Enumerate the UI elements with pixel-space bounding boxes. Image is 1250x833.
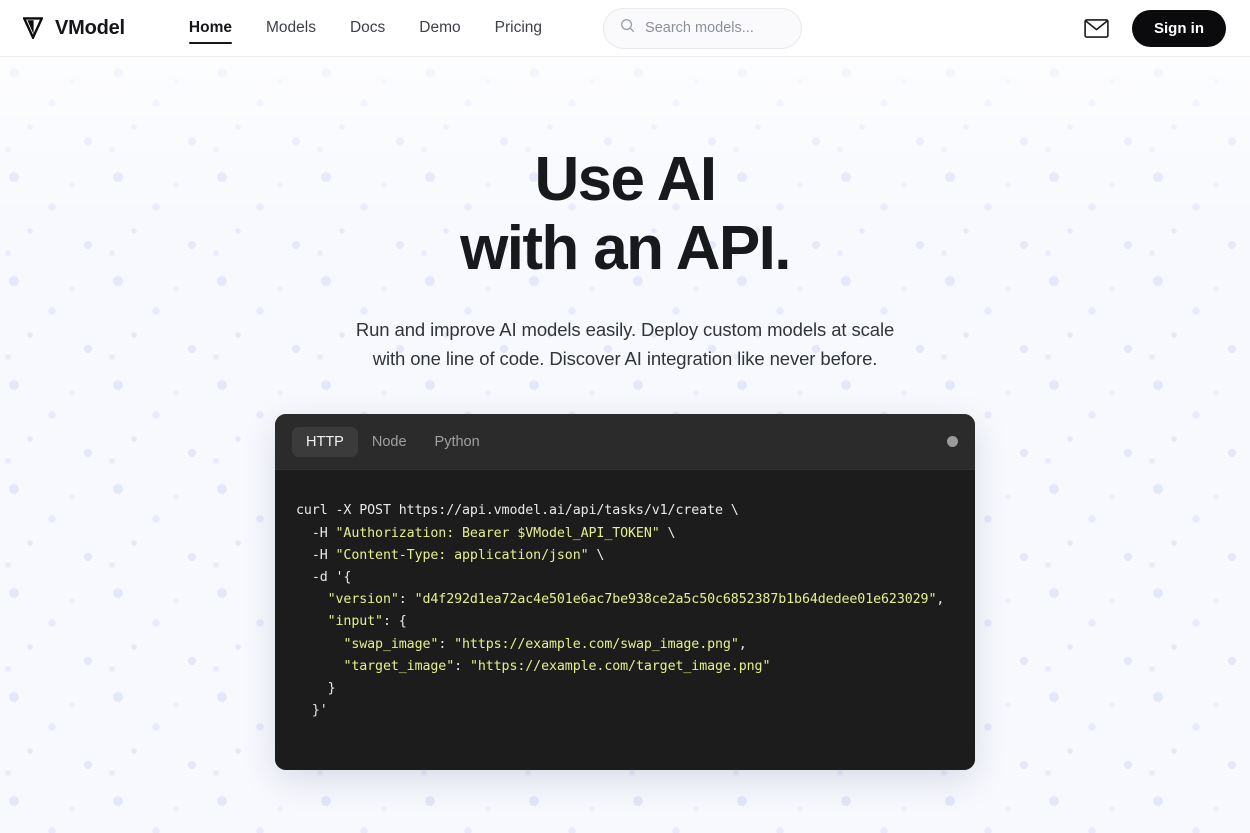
code-text-token: \ [589, 548, 605, 563]
hero-section: Use AI with an API. Run and improve AI m… [0, 57, 1250, 373]
code-text-token [296, 614, 328, 629]
nav-item-demo[interactable]: Demo [419, 0, 460, 56]
search-input[interactable]: Search models... [603, 8, 802, 49]
code-string-token: "d4f292d1ea72ac4e501e6ac7be938ce2a5c50c6… [415, 592, 937, 607]
code-text-token: , [936, 592, 944, 607]
code-text-token: curl -X POST https://api.vmodel.ai/api/t… [296, 503, 739, 518]
hero-title-line-2: with an API. [460, 214, 790, 283]
code-text-token: -H [296, 526, 336, 541]
code-text-token: : { [383, 614, 407, 629]
search-placeholder: Search models... [645, 20, 754, 36]
code-string-token: "swap_image" [343, 637, 438, 652]
header-actions: Sign in [1082, 10, 1226, 47]
code-line: "version": "d4f292d1ea72ac4e501e6ac7be93… [296, 589, 955, 611]
page-title: Use AI with an API. [0, 145, 1250, 284]
code-line: "target_image": "https://example.com/tar… [296, 656, 955, 678]
code-string-token: "https://example.com/target_image.png" [470, 659, 770, 674]
code-line: curl -X POST https://api.vmodel.ai/api/t… [296, 500, 955, 522]
code-text-token: -H [296, 548, 336, 563]
code-text-token [296, 659, 343, 674]
code-text-token: : [454, 659, 470, 674]
hero-subtitle-line-2: with one line of code. Discover AI integ… [373, 348, 878, 369]
hero-title-line-1: Use AI [534, 145, 715, 214]
code-line: "swap_image": "https://example.com/swap_… [296, 634, 955, 656]
code-text-token: -d '{ [296, 570, 351, 585]
status-dot-icon[interactable] [947, 436, 958, 447]
code-string-token: "input" [328, 614, 383, 629]
code-text-token [296, 637, 343, 652]
code-text-token: } [296, 681, 336, 696]
code-string-token: "Content-Type: application/json" [336, 548, 589, 563]
code-body: curl -X POST https://api.vmodel.ai/api/t… [275, 470, 975, 770]
brand-name: VModel [55, 17, 125, 40]
code-line: } [296, 678, 955, 700]
code-string-token: "Authorization: Bearer $VModel_API_TOKEN… [336, 526, 660, 541]
nav-item-models[interactable]: Models [266, 0, 316, 56]
code-snippet: curl -X POST https://api.vmodel.ai/api/t… [296, 500, 955, 722]
envelope-icon[interactable] [1082, 14, 1110, 42]
brand-logo[interactable]: VModel [22, 16, 125, 40]
sign-in-button[interactable]: Sign in [1132, 10, 1226, 47]
hero-subtitle-line-1: Run and improve AI models easily. Deploy… [356, 319, 894, 340]
code-text-token: , [739, 637, 747, 652]
nav-item-pricing[interactable]: Pricing [495, 0, 542, 56]
site-header: VModel Home Models Docs Demo Pricing Sea… [0, 0, 1250, 57]
search-icon [620, 18, 635, 38]
code-sample-card: HTTP Node Python curl -X POST https://ap… [275, 414, 975, 770]
code-string-token: "https://example.com/swap_image.png" [454, 637, 739, 652]
code-string-token: "version" [328, 592, 399, 607]
v-logo-icon [22, 16, 44, 40]
code-text-token: }' [296, 703, 328, 718]
nav-item-docs[interactable]: Docs [350, 0, 385, 56]
code-tab-http[interactable]: HTTP [292, 427, 358, 457]
code-line: -H "Content-Type: application/json" \ [296, 545, 955, 567]
code-line: }' [296, 700, 955, 722]
code-text-token [296, 592, 328, 607]
code-text-token: : [438, 637, 454, 652]
page-body: Use AI with an API. Run and improve AI m… [0, 57, 1250, 833]
code-tab-python[interactable]: Python [421, 427, 494, 457]
code-tab-node[interactable]: Node [358, 427, 421, 457]
code-tab-bar: HTTP Node Python [275, 414, 975, 470]
code-text-token: \ [660, 526, 676, 541]
code-line: "input": { [296, 611, 955, 633]
code-line: -H "Authorization: Bearer $VModel_API_TO… [296, 523, 955, 545]
hero-subtitle: Run and improve AI models easily. Deploy… [0, 315, 1250, 373]
main-nav: Home Models Docs Demo Pricing [189, 0, 542, 56]
code-line: -d '{ [296, 567, 955, 589]
code-text-token: : [399, 592, 415, 607]
code-string-token: "target_image" [343, 659, 454, 674]
nav-item-home[interactable]: Home [189, 0, 232, 56]
